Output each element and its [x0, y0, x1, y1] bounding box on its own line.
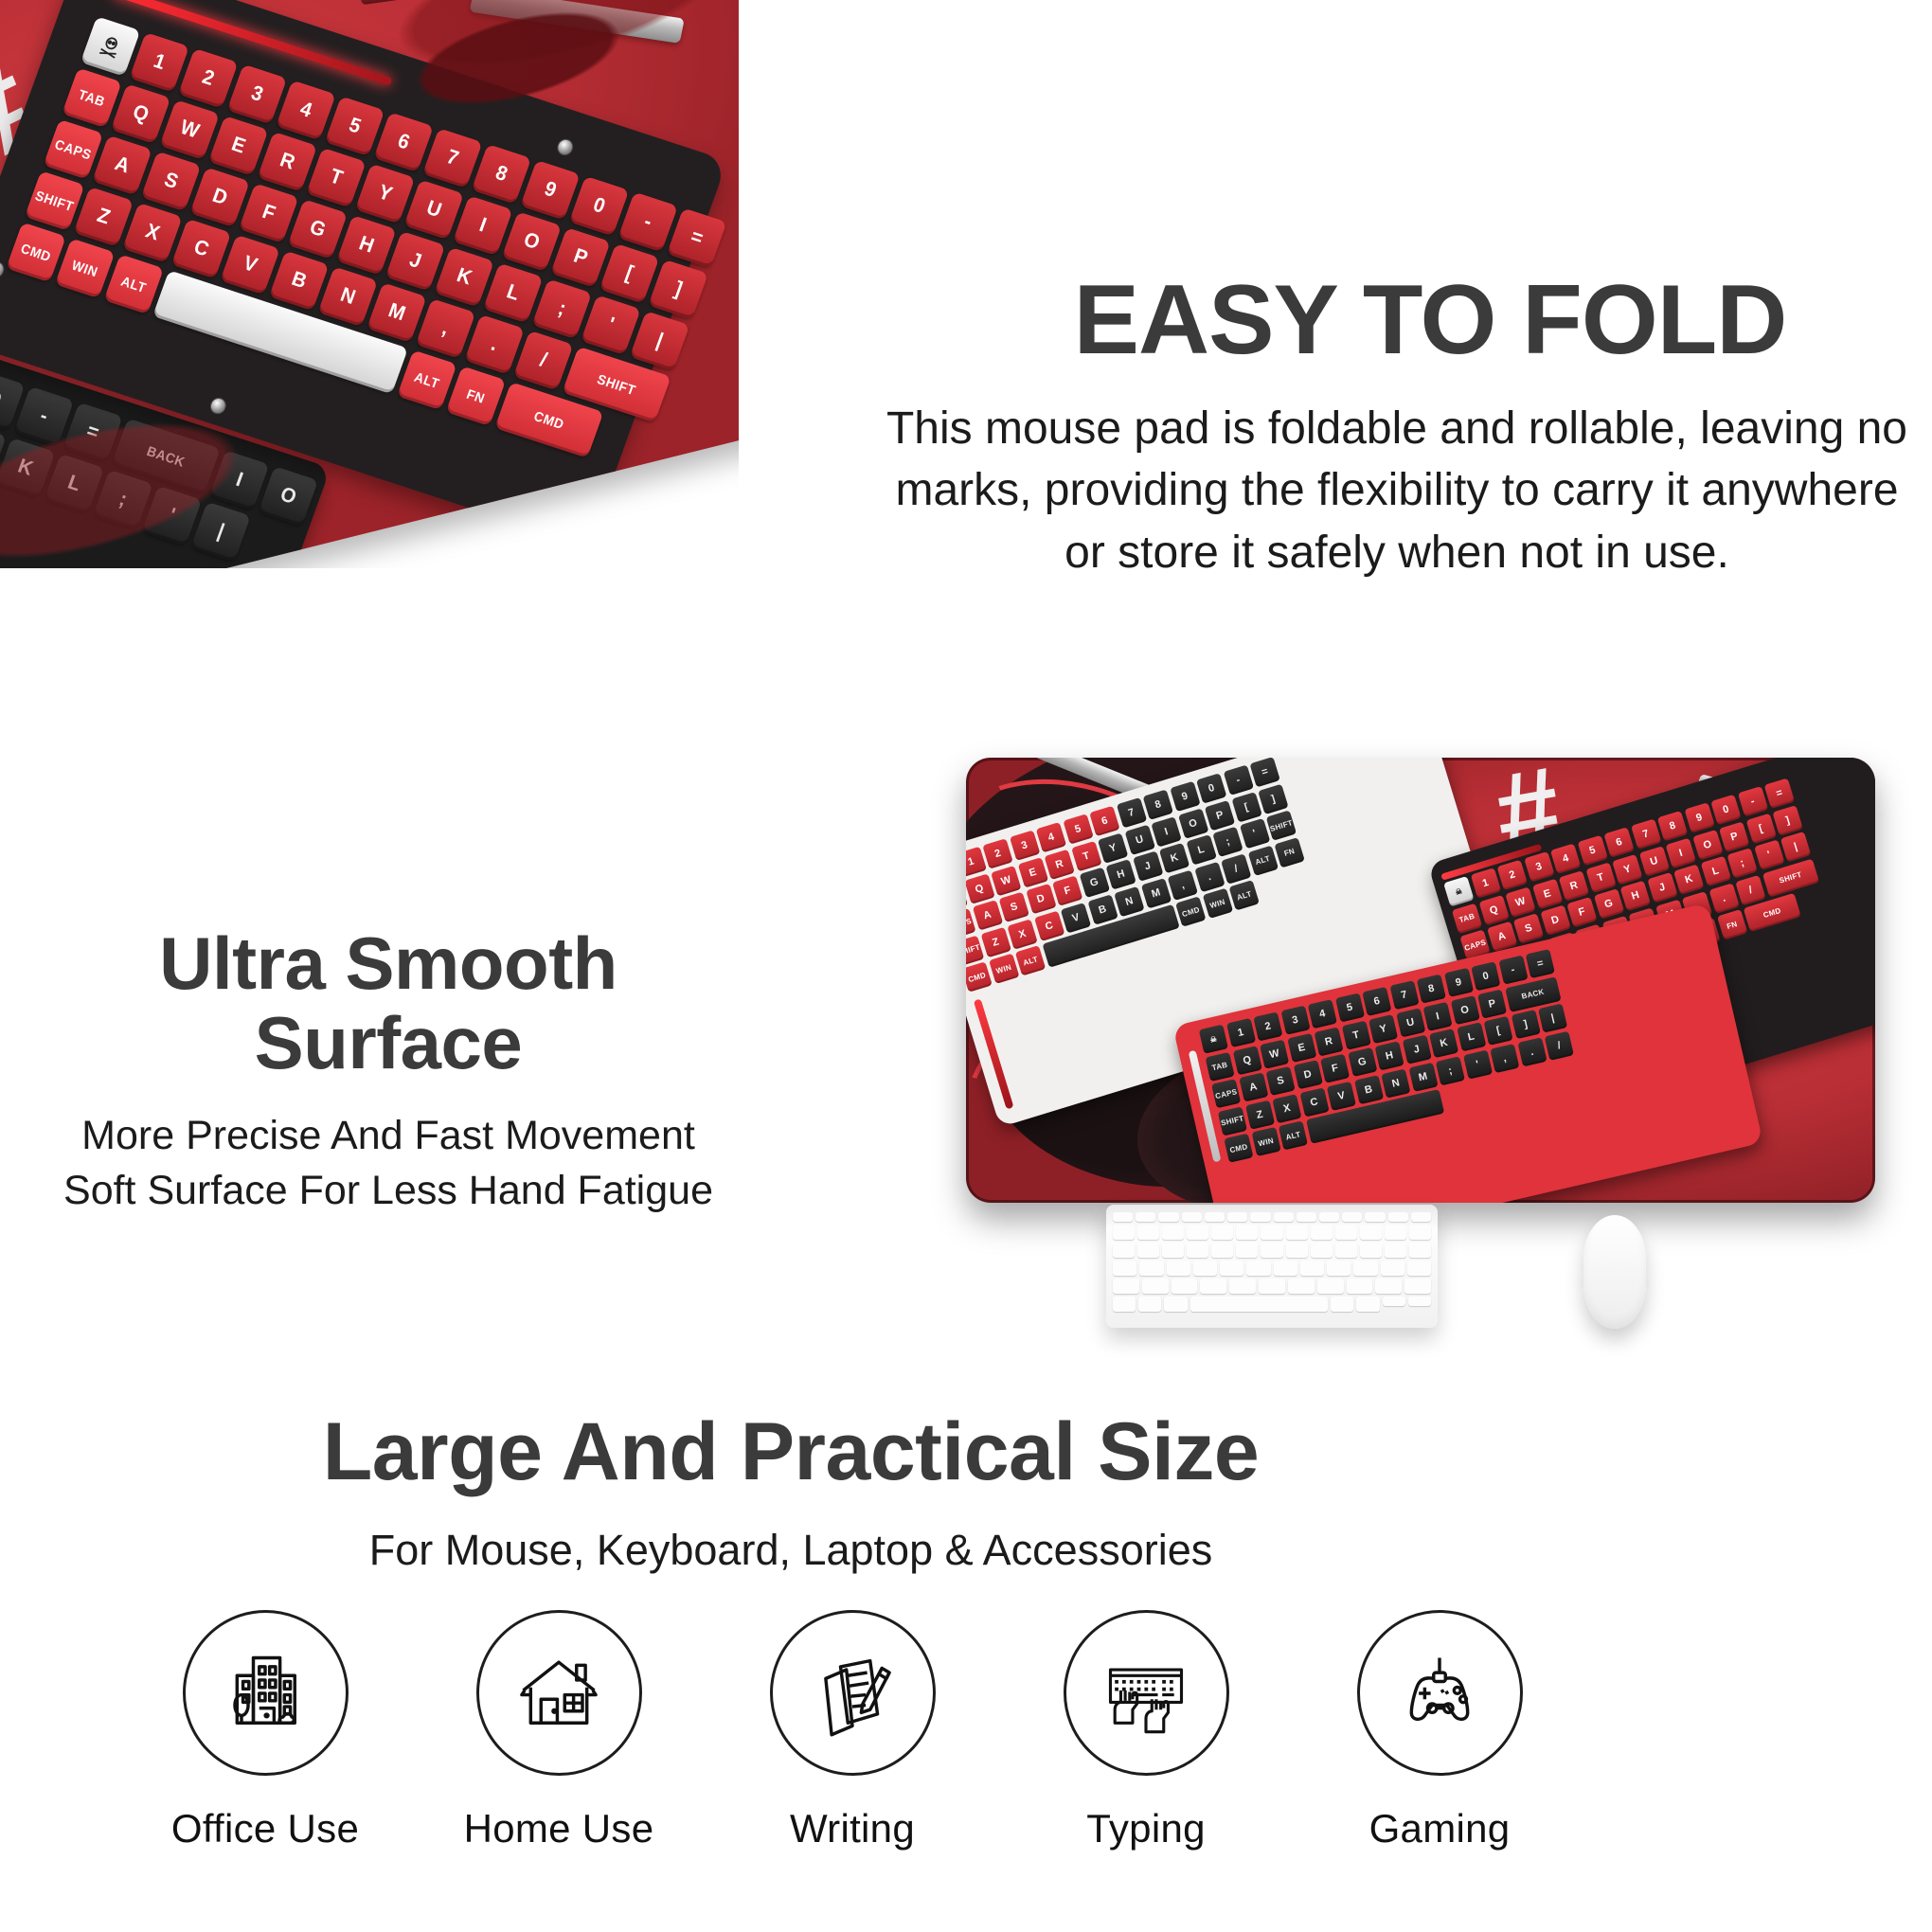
keycap-tab: TAB — [1205, 1051, 1234, 1081]
keycap: 5 — [1334, 993, 1364, 1022]
game-controller-icon — [1357, 1610, 1523, 1776]
use-case-gaming[interactable]: Gaming — [1316, 1610, 1563, 1851]
skull-crossbones-icon: ☠ — [1443, 876, 1474, 906]
key — [1331, 1297, 1353, 1312]
key — [1246, 1261, 1270, 1276]
keycap: , — [416, 298, 476, 359]
keyboard-row — [1113, 1279, 1431, 1294]
key — [1311, 1243, 1333, 1258]
key — [1288, 1279, 1315, 1294]
key — [1113, 1261, 1136, 1276]
keycap: W — [1260, 1039, 1289, 1068]
keycap: X — [122, 203, 183, 263]
keycap: 6 — [1089, 806, 1119, 836]
keycap: G — [1593, 888, 1623, 919]
keycap: G — [1079, 868, 1109, 898]
key — [1404, 1279, 1431, 1294]
keycap-alt: ALT — [1279, 1120, 1308, 1150]
ultra-smooth-heading-line1: Ultra Smooth — [57, 923, 720, 1003]
hands-keyboard-icon — [1064, 1610, 1229, 1776]
key — [1409, 1225, 1431, 1240]
keycap: M — [1408, 1062, 1438, 1091]
key — [1227, 1212, 1247, 1222]
key — [1261, 1225, 1282, 1240]
key — [1187, 1225, 1208, 1240]
key — [1383, 1297, 1405, 1306]
keycap: L — [1186, 834, 1216, 865]
keycap-cmd: CMD — [494, 382, 603, 457]
key — [1167, 1261, 1190, 1276]
keycap: 0 — [0, 370, 26, 431]
key — [1187, 1243, 1208, 1258]
keycap: D — [1293, 1060, 1322, 1089]
keycap: D — [189, 167, 250, 227]
keycap: 0 — [569, 176, 630, 237]
key-space — [1190, 1297, 1328, 1312]
keyboard-row — [1113, 1225, 1431, 1240]
easy-fold-body: This mouse pad is foldable and rollable,… — [881, 398, 1913, 583]
keycap: V — [220, 235, 280, 295]
keycap: [ — [599, 243, 660, 304]
key — [1381, 1261, 1404, 1276]
keycap: 8 — [1657, 811, 1688, 841]
key — [1139, 1261, 1163, 1276]
keycap: T — [306, 148, 367, 208]
keycap: P — [550, 227, 611, 288]
keycap: 2 — [1253, 1011, 1282, 1041]
keycap: R — [258, 132, 318, 192]
keycap: K — [0, 438, 55, 498]
key — [1408, 1297, 1431, 1306]
keyboard-row — [1113, 1261, 1431, 1276]
use-case-writing[interactable]: Writing — [729, 1610, 975, 1851]
keycap: | — [1780, 832, 1811, 862]
keycap-cmd: CMD — [1175, 896, 1206, 926]
keycap: H — [336, 215, 397, 276]
key — [1317, 1279, 1344, 1294]
keycap: . — [1194, 861, 1225, 891]
key — [1319, 1212, 1339, 1222]
keycap: H — [1375, 1041, 1404, 1070]
key — [1200, 1279, 1226, 1294]
keycap: H — [1620, 881, 1651, 911]
keycap: Z — [980, 926, 1011, 957]
keycap: B — [1087, 894, 1118, 924]
keycap-grid: 1 2 3 4 5 6 7 8 9 0 - = TAB Q W E R — [6, 16, 726, 474]
keycap: ] — [1258, 783, 1288, 814]
skull-crossbones-icon — [80, 16, 141, 77]
keycap: O — [1177, 808, 1207, 838]
keycap: L — [1457, 1022, 1486, 1051]
keycap: Y — [1368, 1014, 1398, 1044]
keycap: BACK — [112, 419, 221, 494]
key — [1274, 1261, 1297, 1276]
keycap: / — [513, 331, 574, 391]
skull-crossbones-icon: ☠ — [1199, 1025, 1228, 1054]
use-case-row: Office Use Home Use — [142, 1610, 1563, 1923]
keycap: E — [1017, 857, 1047, 887]
keycap: ; — [1436, 1056, 1465, 1085]
keycap: ' — [1462, 1049, 1492, 1079]
keycap: 2 — [982, 838, 1012, 868]
keycap: [ — [1231, 792, 1261, 822]
keycap: . — [1517, 1037, 1547, 1066]
keycap: ' — [1754, 840, 1784, 870]
keycap: W — [159, 99, 220, 160]
keycap: ] — [1511, 1010, 1540, 1039]
keycap: C — [171, 219, 232, 279]
keycap: E — [208, 116, 269, 176]
keycap: J — [1133, 851, 1163, 882]
keycap: Q — [1478, 895, 1509, 925]
keycap: K — [434, 247, 494, 308]
key — [1113, 1279, 1139, 1294]
keycap: E — [1287, 1032, 1316, 1062]
keycap: 8 — [1143, 789, 1173, 819]
ultra-smooth-body: More Precise And Fast Movement Soft Surf… — [38, 1108, 739, 1218]
keycap: R — [1559, 870, 1589, 901]
screw-icon — [555, 137, 576, 158]
key — [1211, 1225, 1233, 1240]
hash-symbol-icon: # — [0, 42, 44, 181]
key — [1138, 1297, 1161, 1312]
keycap: [ — [1745, 813, 1776, 843]
use-case-office-use[interactable]: Office Use — [142, 1610, 388, 1851]
key — [1311, 1225, 1333, 1240]
keycap-win: WIN — [1251, 1127, 1280, 1156]
keycap: 1 — [1470, 868, 1500, 898]
keycap: I — [1665, 837, 1695, 868]
keycap: L — [483, 263, 544, 324]
key — [1297, 1212, 1316, 1222]
keycap: 0 — [1196, 773, 1226, 803]
keyboard-row — [1113, 1243, 1431, 1258]
keycap: Z — [73, 187, 134, 247]
keycap: 1 — [129, 32, 189, 93]
key — [1158, 1212, 1178, 1222]
keycap: T — [1585, 862, 1616, 892]
keycap: = — [1249, 758, 1279, 787]
keycap: D — [1540, 905, 1570, 936]
keycap-tab: TAB — [1452, 903, 1482, 933]
keycap: ] — [1772, 805, 1802, 835]
keyboard-illustration-black: 8 9 0 - = BACK I O P [ ] K L ; ' | — [0, 320, 331, 568]
keycap: Q — [966, 873, 994, 903]
keycap-win: WIN — [55, 239, 116, 299]
keycap: - — [1737, 786, 1767, 816]
keycap: A — [972, 900, 1002, 930]
key — [1220, 1261, 1243, 1276]
keycap: 1 — [1226, 1018, 1256, 1047]
keyboard-illustration-red: 1 2 3 4 5 6 7 8 9 0 - = TAB Q W E R — [0, 0, 727, 546]
keycap: L — [1700, 856, 1730, 886]
screw-icon — [0, 259, 7, 280]
product-photo-folded-mat: # # 8 9 0 - = BACK I O P [ ] K L — [0, 0, 739, 568]
keycap: = — [1526, 949, 1555, 978]
key — [1375, 1279, 1402, 1294]
key — [1164, 1297, 1187, 1312]
keycap: W — [1505, 886, 1535, 917]
key — [1365, 1212, 1385, 1222]
keycap: 3 — [1280, 1006, 1310, 1035]
keycap: 7 — [1631, 819, 1661, 850]
keycap: X — [1007, 919, 1037, 949]
keycap: ; — [531, 279, 592, 340]
keycap: V — [1327, 1081, 1356, 1110]
key — [1385, 1243, 1406, 1258]
key — [1250, 1212, 1270, 1222]
keycap: ] — [0, 421, 7, 482]
keycap: S — [1266, 1066, 1296, 1096]
key — [1385, 1225, 1406, 1240]
keycap: Y — [355, 164, 416, 224]
product-photo-deskmat-scene: # # # ☠ 1 2 3 4 5 6 7 8 9 0 — [966, 758, 1875, 1203]
keycap: ] — [648, 259, 708, 320]
keycap: 4 — [1550, 843, 1581, 873]
keycap: T — [1071, 841, 1101, 871]
ultra-smooth-body-line2: Soft Surface For Less Hand Fatigue — [38, 1163, 739, 1218]
keycap: 5 — [325, 96, 385, 156]
keycap: ' — [581, 295, 641, 355]
keycap-fn: FN — [446, 366, 507, 426]
key — [1259, 1279, 1285, 1294]
keycap: / — [1221, 853, 1251, 884]
keycap: K — [1159, 843, 1190, 873]
keycap: Q — [1232, 1046, 1261, 1075]
keycap: M — [367, 282, 427, 343]
keycap-win: WIN — [989, 954, 1019, 984]
keycap: 5 — [1577, 835, 1607, 866]
key — [1211, 1243, 1233, 1258]
key — [1113, 1225, 1135, 1240]
keycap-cmd: CMD — [6, 223, 66, 283]
keycap: P — [1719, 821, 1749, 851]
keycap: I — [1151, 816, 1181, 847]
keycap: | — [190, 502, 251, 563]
keycap: K — [1429, 1029, 1458, 1058]
keycap: Y — [1098, 832, 1128, 863]
keycap: P — [1205, 799, 1235, 830]
key — [1113, 1297, 1136, 1312]
keycap-shift: SHIFT — [562, 347, 671, 422]
keycap: ; — [1726, 848, 1757, 878]
key — [1229, 1279, 1256, 1294]
keycap-win: WIN — [1202, 888, 1232, 919]
key — [1137, 1243, 1159, 1258]
keycap-cmd: CMD — [1224, 1134, 1253, 1163]
keycap: Q — [111, 83, 171, 144]
key — [1335, 1243, 1357, 1258]
keycap: E — [1531, 878, 1562, 908]
keycap: B — [269, 251, 330, 312]
key — [1286, 1225, 1308, 1240]
keycap: G — [288, 199, 349, 259]
use-case-home-use[interactable]: Home Use — [436, 1610, 682, 1851]
keycap: I — [209, 450, 270, 510]
keycap-caps: CAPS — [44, 119, 104, 180]
keycap: O — [502, 211, 563, 272]
key — [1205, 1212, 1225, 1222]
keycap: 7 — [1389, 980, 1419, 1010]
keycap-fn: FN — [1274, 837, 1304, 868]
key — [1353, 1261, 1377, 1276]
keycap: I — [1422, 1001, 1452, 1030]
cable-illustration — [470, 0, 685, 44]
keycap: F — [1566, 897, 1597, 927]
keycap: T — [1341, 1020, 1370, 1049]
screw-icon — [208, 396, 229, 417]
keycap: - — [617, 192, 678, 253]
keycap: 0 — [1471, 961, 1500, 991]
keycap: D — [1026, 884, 1056, 914]
key — [1113, 1243, 1135, 1258]
keycap: R — [1314, 1027, 1343, 1056]
keycap: 4 — [276, 80, 336, 141]
use-case-label: Gaming — [1369, 1806, 1511, 1851]
easy-fold-heading: EASY TO FOLD — [947, 271, 1913, 369]
key — [1136, 1212, 1155, 1222]
keycap-cmd: CMD — [966, 961, 993, 992]
key — [1137, 1225, 1159, 1240]
keycap: H — [1105, 859, 1136, 889]
keyboard-row — [1113, 1212, 1431, 1222]
keycap: S — [999, 892, 1029, 922]
keycap: = — [63, 402, 123, 463]
keycap-alt: ALT — [103, 254, 164, 314]
key — [1236, 1225, 1258, 1240]
keycap: . — [1708, 883, 1739, 913]
keycap: N — [317, 266, 378, 327]
keycap: 7 — [1116, 797, 1146, 828]
large-size-heading: Large And Practical Size — [208, 1411, 1373, 1493]
keycap-space — [152, 270, 408, 394]
keycap: - — [1498, 956, 1528, 985]
keycap: C — [1299, 1087, 1329, 1117]
keycap: = — [667, 208, 727, 269]
keycap: ; — [1212, 827, 1243, 857]
key — [1142, 1279, 1169, 1294]
keyboard-row — [1113, 1297, 1431, 1312]
keycap: = — [1764, 778, 1795, 808]
keycap: 8 — [472, 144, 532, 205]
keycap-tab: TAB — [62, 68, 122, 129]
keycap: 3 — [227, 64, 288, 125]
keycap-alt: ALT — [1228, 880, 1259, 910]
key — [1327, 1261, 1351, 1276]
keycap: ' — [142, 486, 203, 546]
use-case-label: Writing — [790, 1806, 915, 1851]
key — [1113, 1212, 1133, 1222]
document-pencil-icon — [770, 1610, 936, 1776]
product-feature-page: # # 8 9 0 - = BACK I O P [ ] K L — [0, 0, 1932, 1932]
ultra-smooth-heading-line2: Surface — [57, 1003, 720, 1082]
keycap: 2 — [1497, 860, 1528, 890]
keycap: 3 — [1009, 831, 1039, 861]
key — [1261, 1243, 1282, 1258]
keycap: 5 — [1063, 814, 1093, 844]
desk-mat-surface: # # 8 9 0 - = BACK I O P [ ] K L — [0, 0, 739, 568]
keycap: J — [385, 231, 446, 292]
keycap: 6 — [1362, 987, 1391, 1016]
keycap: P — [1477, 989, 1507, 1018]
keycap: ; — [93, 470, 153, 530]
keycap: / — [1545, 1030, 1574, 1060]
keycap-shift: SHIFT — [25, 170, 85, 231]
keycap-alt: ALT — [1247, 845, 1278, 875]
keycap-caps: CAPS — [1211, 1079, 1241, 1108]
keycap: F — [1052, 875, 1082, 905]
office-building-icon — [183, 1610, 349, 1776]
keycap: I — [453, 195, 513, 256]
use-case-typing[interactable]: Typing — [1023, 1610, 1269, 1851]
keycap: , — [1490, 1043, 1519, 1072]
key — [1335, 1225, 1357, 1240]
keycap: M — [1140, 878, 1171, 908]
led-strip — [111, 0, 393, 86]
keycap: U — [1638, 846, 1669, 876]
key — [1411, 1212, 1431, 1222]
keycap-alt: ALT — [1015, 945, 1046, 975]
keycap: N — [1114, 885, 1144, 916]
key — [1356, 1297, 1379, 1312]
use-case-label: Office Use — [171, 1806, 359, 1851]
keycap: - — [14, 386, 75, 447]
keycap: F — [1320, 1054, 1350, 1083]
keycap: 8 — [1417, 975, 1446, 1004]
keycap: 3 — [1524, 851, 1554, 882]
keycap: / — [1735, 874, 1765, 904]
keycap: V — [1061, 903, 1091, 933]
keycap: Y — [1612, 853, 1642, 884]
keycap: [ — [1483, 1016, 1512, 1046]
keycap: X — [1272, 1094, 1301, 1123]
keycap: A — [92, 135, 152, 196]
key — [1388, 1212, 1408, 1222]
keycap: O — [1450, 995, 1479, 1025]
keycap: S — [141, 152, 202, 212]
white-mouse-photo — [1583, 1215, 1646, 1329]
keycap: O — [258, 466, 318, 527]
keycap: - — [1223, 765, 1253, 796]
key — [1182, 1212, 1202, 1222]
key — [1274, 1212, 1294, 1222]
keycap: B — [1353, 1075, 1383, 1104]
keycap: 7 — [422, 128, 483, 188]
house-icon — [476, 1610, 642, 1776]
use-case-label: Home Use — [464, 1806, 654, 1851]
keycap: 6 — [1603, 827, 1634, 857]
keycap-fn: FN — [1716, 909, 1746, 939]
desk-mat-surface-large: # # # ☠ 1 2 3 4 5 6 7 8 9 0 — [966, 758, 1875, 1203]
large-size-subheading: For Mouse, Keyboard, Laptop & Accessorie… — [284, 1525, 1297, 1576]
keycap: U — [1124, 824, 1154, 854]
key — [1407, 1261, 1431, 1276]
key — [1300, 1261, 1324, 1276]
keycap: A — [1239, 1072, 1268, 1101]
keycap: 4 — [1036, 822, 1066, 852]
keycap: . — [464, 314, 525, 375]
keycap: 9 — [1684, 802, 1714, 832]
key — [1193, 1261, 1217, 1276]
keycap: W — [991, 865, 1021, 895]
keycap: L — [44, 454, 104, 514]
keycap: F — [239, 183, 299, 243]
keycap: , — [1167, 869, 1197, 900]
keycap: 4 — [1308, 999, 1337, 1029]
keycap: U — [403, 180, 464, 241]
keycap: 0 — [1710, 795, 1741, 825]
keycap-shift: SHIFT — [1218, 1106, 1247, 1136]
